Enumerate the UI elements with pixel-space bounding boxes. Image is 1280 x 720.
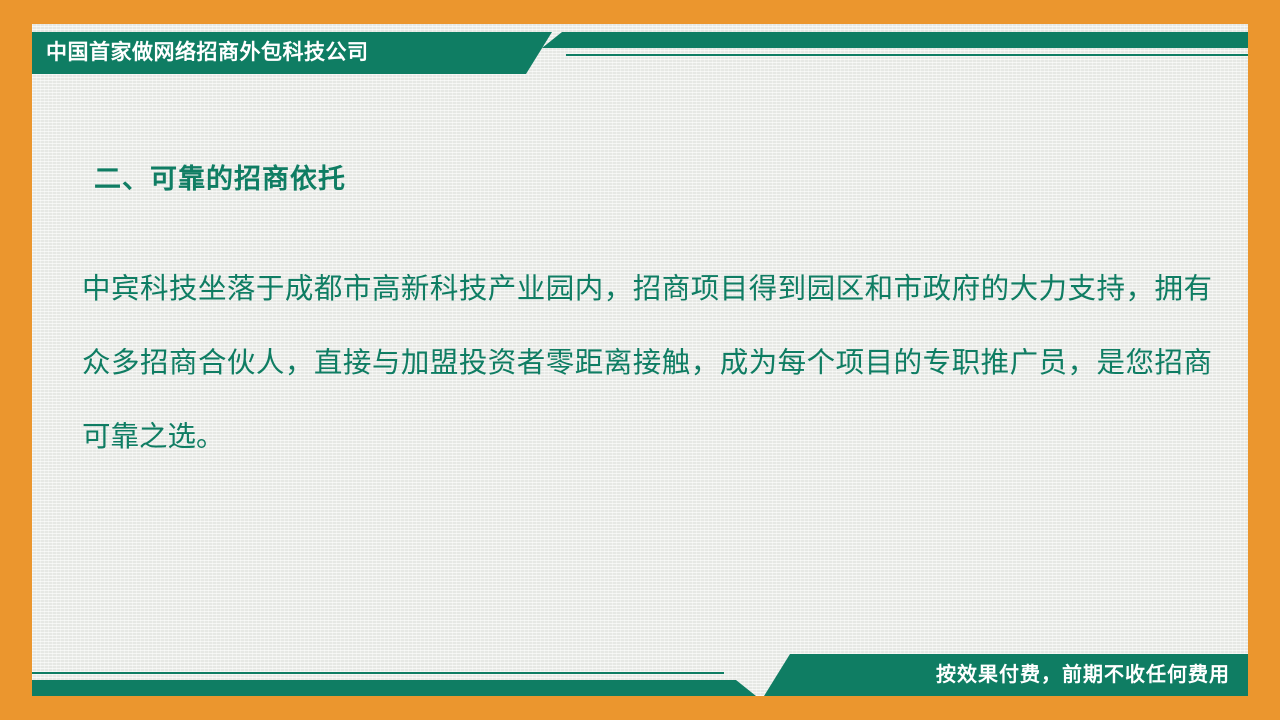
slide-header: 中国首家做网络招商外包科技公司 xyxy=(32,32,1248,74)
header-title: 中国首家做网络招商外包科技公司 xyxy=(46,32,369,74)
footer-divider-line xyxy=(32,672,724,674)
section-heading: 二、可靠的招商依托 xyxy=(94,157,346,196)
header-divider-line xyxy=(566,54,1248,56)
slide-footer: 按效果付费，前期不收任何费用 xyxy=(32,632,1248,696)
footer-tagline: 按效果付费，前期不收任何费用 xyxy=(936,654,1230,696)
body-paragraph: 中宾科技坐落于成都市高新科技产业园内，招商项目得到园区和市政府的大力支持，拥有众… xyxy=(82,252,1212,474)
footer-accent-bar xyxy=(32,680,756,696)
header-accent-bar xyxy=(542,32,1248,48)
slide-root: 中国首家做网络招商外包科技公司 二、可靠的招商依托 中宾科技坐落于成都市高新科技… xyxy=(0,0,1280,720)
slide-content-panel: 中国首家做网络招商外包科技公司 二、可靠的招商依托 中宾科技坐落于成都市高新科技… xyxy=(32,24,1248,696)
